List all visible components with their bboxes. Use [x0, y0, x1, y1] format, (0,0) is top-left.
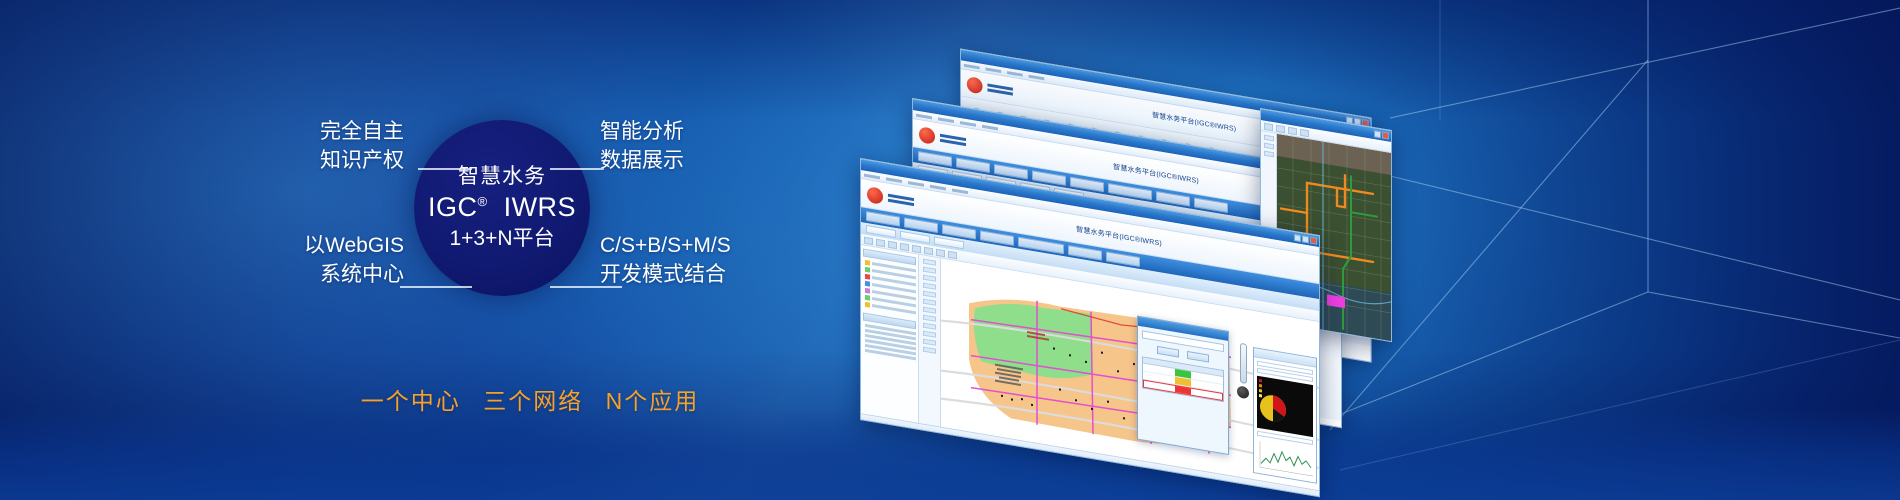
water-drop-logo-icon [919, 126, 935, 145]
palette-tool [923, 331, 936, 338]
maximize-icon[interactable] [1302, 235, 1309, 243]
minimize-icon[interactable] [1374, 130, 1381, 138]
registered-mark-icon: ® [477, 194, 487, 209]
close-icon[interactable] [1310, 237, 1317, 245]
feature-top-left: 完全自主 知识产权 [244, 118, 404, 176]
menu-item [916, 113, 932, 119]
tool-button [1288, 126, 1297, 135]
tagline-part-1: 一个中心 [361, 388, 461, 414]
water-drop-logo-icon [867, 186, 883, 205]
tool-button [912, 244, 921, 253]
brand-text [888, 193, 914, 205]
palette-tool [923, 323, 936, 330]
tool-button [900, 242, 909, 251]
banner-root: 智慧水务 IGC® IWRS 1+3+N平台 完全自主 知识产权 智能分析 数据… [0, 0, 1900, 500]
hub-product-iwrs: IWRS [504, 192, 577, 222]
feature-bottom-right-line1: C/S+B/S+M/S [600, 232, 731, 261]
map-tool-palette[interactable] [919, 255, 941, 427]
tool-button [1300, 128, 1309, 137]
pan-compass-icon[interactable] [1237, 385, 1249, 399]
brand-text [940, 133, 966, 145]
dialog-confirm-button[interactable] [1157, 346, 1179, 358]
close-icon[interactable] [1382, 131, 1389, 139]
feature-bottom-left: 以WebGIS 系统中心 [244, 232, 404, 290]
infographic: 智慧水务 IGC® IWRS 1+3+N平台 完全自主 知识产权 智能分析 数据… [250, 100, 810, 400]
layer-tree-panel[interactable] [861, 245, 919, 423]
map-navigation-control[interactable] [1237, 342, 1249, 428]
feature-top-left-line2: 知识产权 [244, 147, 404, 176]
palette-tool [923, 299, 936, 306]
feature-bottom-left-line2: 系统中心 [244, 261, 404, 290]
menu-item [985, 67, 1001, 73]
analysis-panel-body [1254, 357, 1316, 481]
menu-item [938, 117, 954, 123]
pie-chart-widget [1257, 376, 1313, 437]
dialog-body [1138, 326, 1228, 407]
hub-platform-label: 1+3+N平台 [449, 226, 554, 251]
feature-top-right: 智能分析 数据展示 [600, 118, 684, 176]
menu-item [886, 177, 902, 183]
tool-button [864, 236, 873, 245]
palette-tool [923, 267, 936, 274]
hub-product-igc: IGC [428, 192, 478, 222]
tool-button [888, 240, 897, 249]
tool-button [876, 238, 885, 247]
tagline-part-3: N个应用 [606, 388, 700, 414]
analysis-panel[interactable] [1253, 347, 1317, 484]
feature-top-right-line2: 数据展示 [600, 147, 684, 176]
tool-button [1264, 122, 1273, 131]
tool-button [936, 248, 945, 257]
feature-bottom-right: C/S+B/S+M/S 开发模式结合 [600, 232, 731, 290]
zoom-slider[interactable] [1240, 343, 1247, 384]
feature-bottom-right-line2: 开发模式结合 [600, 261, 731, 290]
minimize-icon[interactable] [1294, 234, 1301, 242]
palette-tool [923, 259, 936, 266]
line-chart [1257, 439, 1315, 479]
water-drop-logo-icon [967, 76, 983, 94]
feature-top-left-line1: 完全自主 [244, 118, 404, 147]
screenshot-stack: 智慧水务平台(IGC®IWRS) [960, 46, 1660, 426]
menu-item [864, 173, 880, 179]
menu-item [908, 181, 924, 187]
brand-text [987, 83, 1012, 95]
menu-item [1007, 71, 1023, 77]
query-dialog[interactable] [1137, 316, 1229, 455]
hub-product-name: IGC® IWRS [428, 193, 576, 223]
menu-item [952, 188, 968, 194]
tool-button [1276, 124, 1285, 133]
connector-top-right [550, 168, 604, 170]
pie-chart [1257, 376, 1315, 438]
menu-item [930, 184, 946, 190]
menu-item [982, 124, 998, 130]
menu-item [960, 121, 976, 127]
feature-bottom-left-line1: 以WebGIS [244, 232, 404, 261]
tool-button [948, 250, 957, 259]
dialog-cancel-button[interactable] [1187, 351, 1209, 363]
palette-tool [923, 339, 936, 346]
connector-top-left [418, 168, 472, 170]
palette-tool [923, 347, 936, 354]
palette-tool [923, 275, 936, 282]
palette-tool [923, 307, 936, 314]
hub-circle: 智慧水务 IGC® IWRS 1+3+N平台 [414, 120, 590, 296]
feature-top-right-line1: 智能分析 [600, 118, 684, 147]
menu-item [964, 63, 980, 69]
palette-tool [923, 291, 936, 298]
tagline-part-2: 三个网络 [483, 388, 583, 414]
connector-bottom-left [400, 286, 472, 288]
palette-tool [923, 283, 936, 290]
tagline: 一个中心 三个网络 N个应用 [250, 382, 810, 416]
menu-item [1029, 74, 1045, 80]
palette-tool [923, 315, 936, 322]
tool-button [924, 246, 933, 255]
